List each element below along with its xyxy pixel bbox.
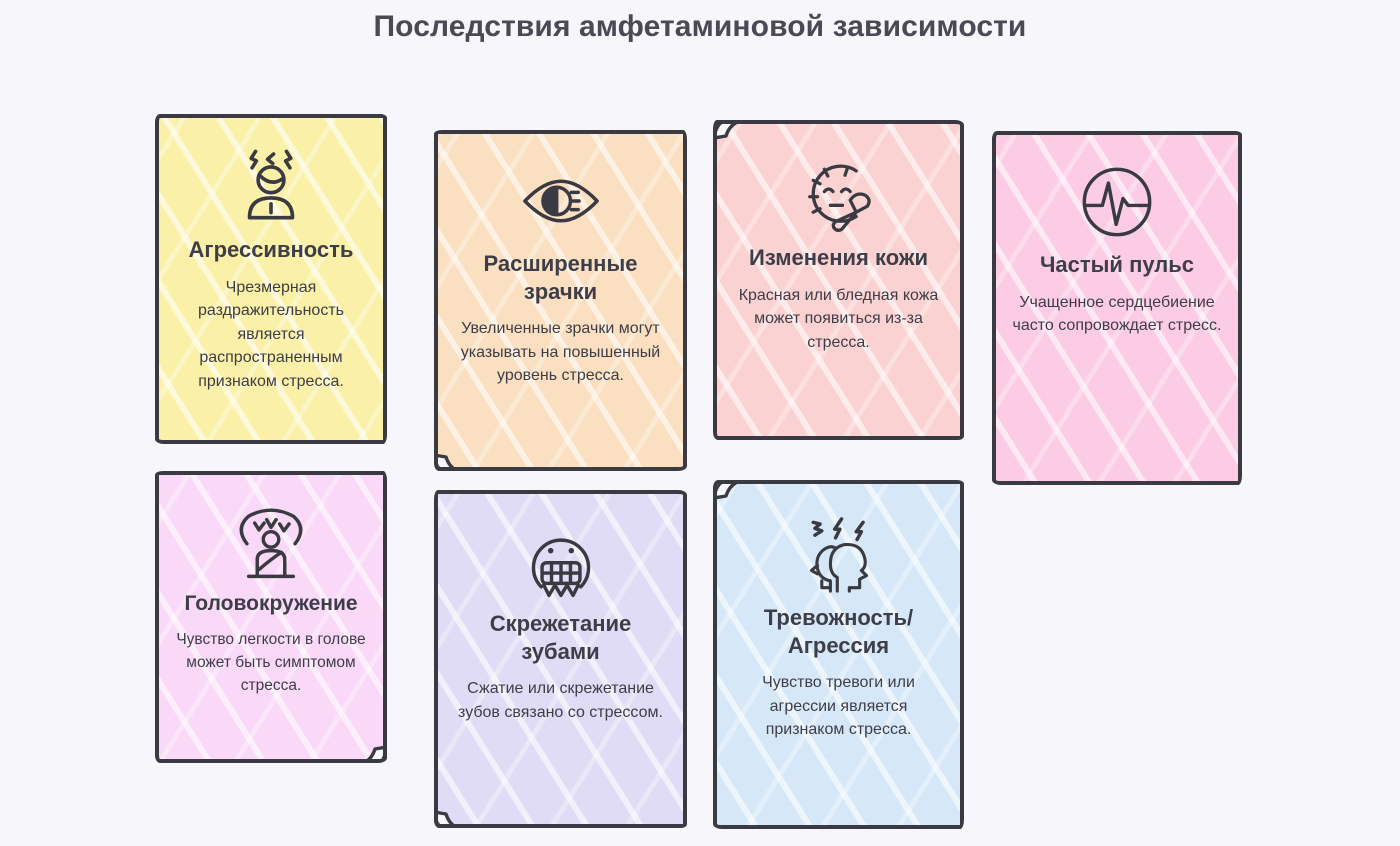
dilated-eye-icon xyxy=(518,158,604,244)
card-teeth[interactable]: Скрежетание зубами Сжатие или скрежетани… xyxy=(434,490,687,828)
grinding-teeth-icon xyxy=(518,518,604,604)
folded-corner-icon xyxy=(355,743,387,763)
card-title: Головокружение xyxy=(184,591,357,617)
card-skin[interactable]: Изменения кожи Красная или бледная кожа … xyxy=(713,120,964,440)
card-body: Увеличенные зрачки могут указывать на по… xyxy=(454,317,667,388)
card-aggression[interactable]: Агрессивность Чрезмерная раздражительнос… xyxy=(155,114,387,444)
card-title: Расширенные зрачки xyxy=(454,250,667,305)
card-body: Чувство легкости в голове может быть сим… xyxy=(175,629,367,697)
folded-corner-icon xyxy=(713,480,745,502)
heartbeat-pulse-icon xyxy=(1074,159,1160,245)
card-title: Частый пульс xyxy=(1040,251,1194,279)
face-brush-icon xyxy=(796,152,882,238)
card-dizziness[interactable]: Головокружение Чувство легкости в голове… xyxy=(155,471,387,763)
cards-board: Агрессивность Чрезмерная раздражительнос… xyxy=(0,0,1400,846)
two-heads-lightning-icon xyxy=(796,512,882,598)
card-title: Тревожность/ Агрессия xyxy=(733,604,944,659)
card-body: Сжатие или скрежетание зубов связано со … xyxy=(454,677,667,724)
card-body: Чрезмерная раздражительность является ра… xyxy=(175,276,367,394)
folded-corner-icon xyxy=(713,120,745,142)
dizzy-person-icon xyxy=(228,499,314,585)
folded-corner-icon xyxy=(434,808,466,828)
card-title: Изменения кожи xyxy=(749,244,928,272)
card-title: Агрессивность xyxy=(189,236,354,264)
card-body: Учащенное сердцебиение часто сопровождае… xyxy=(1012,291,1222,338)
card-title: Скрежетание зубами xyxy=(454,610,667,665)
folded-corner-icon xyxy=(434,451,466,471)
card-pulse[interactable]: Частый пульс Учащенное сердцебиение част… xyxy=(992,131,1242,485)
card-pupils[interactable]: Расширенные зрачки Увеличенные зрачки мо… xyxy=(434,130,687,471)
card-body: Чувство тревоги или агрессии является пр… xyxy=(733,671,944,742)
card-body: Красная или бледная кожа может появиться… xyxy=(733,284,944,355)
card-anxiety[interactable]: Тревожность/ Агрессия Чувство тревоги ил… xyxy=(713,480,964,829)
angry-person-icon xyxy=(228,142,314,228)
